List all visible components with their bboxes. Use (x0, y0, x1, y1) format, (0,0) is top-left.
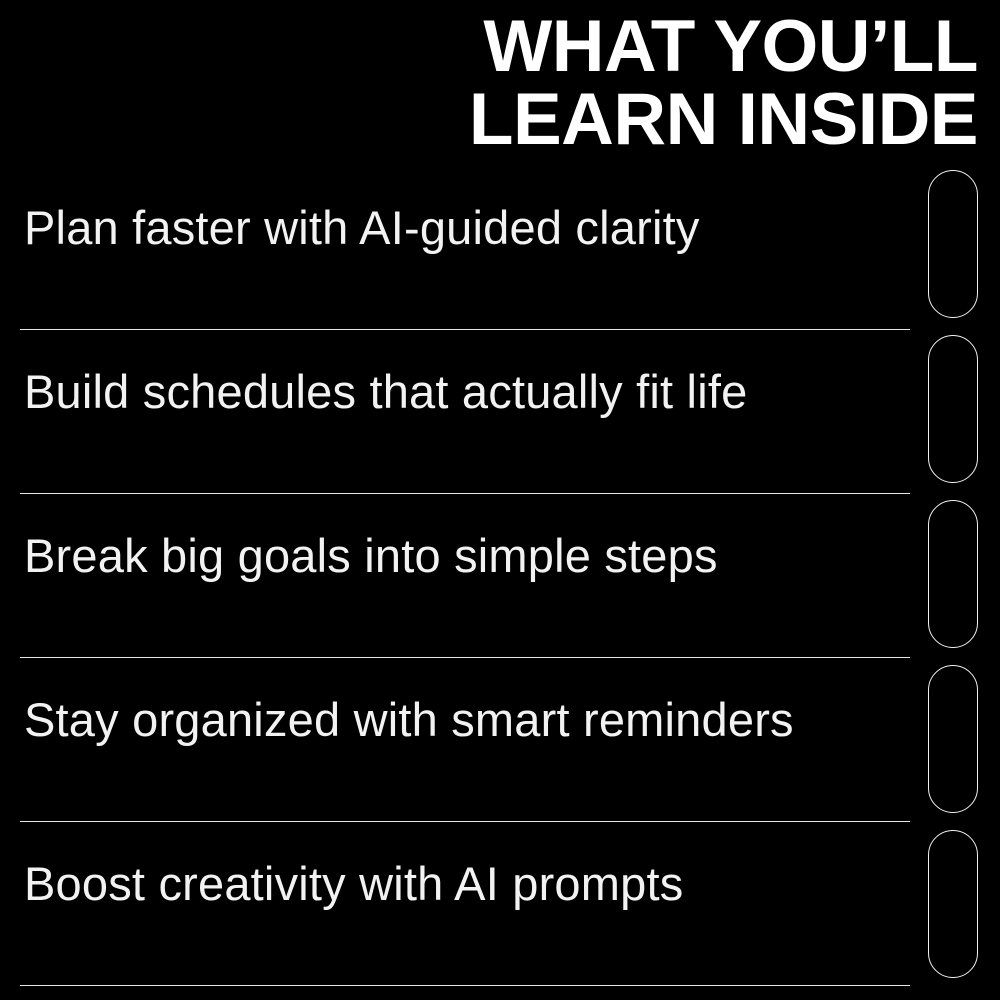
list-item: Break big goals into simple steps (0, 494, 910, 658)
list-item-label: Plan faster with AI-guided clarity (24, 200, 700, 256)
page-title-line-2: LEARN INSIDE (0, 83, 978, 156)
list-item-label: Stay organized with smart reminders (24, 692, 794, 748)
pill-outline-shape (928, 170, 978, 318)
list-item: Plan faster with AI-guided clarity (0, 166, 910, 330)
list-item: Build schedules that actually fit life (0, 330, 910, 494)
pill-outline-shape (928, 500, 978, 648)
pill-decoration-column (928, 170, 980, 995)
page-title: WHAT YOU’LL LEARN INSIDE (0, 0, 978, 156)
list-item-label: Break big goals into simple steps (24, 528, 718, 584)
list-item: Stay organized with smart reminders (0, 658, 910, 822)
list-item-divider (20, 985, 910, 986)
list-item-label: Build schedules that actually fit life (24, 364, 747, 420)
list-item: Boost creativity with AI prompts (0, 822, 910, 986)
page-title-line-1: WHAT YOU’LL (0, 10, 978, 83)
slide-canvas: { "theme": { "background": "#000000", "f… (0, 0, 1000, 1000)
benefit-list: Plan faster with AI-guided clarity Build… (0, 166, 910, 986)
list-item-label: Boost creativity with AI prompts (24, 856, 683, 912)
pill-outline-shape (928, 335, 978, 483)
pill-outline-shape (928, 830, 978, 978)
pill-outline-shape (928, 665, 978, 813)
